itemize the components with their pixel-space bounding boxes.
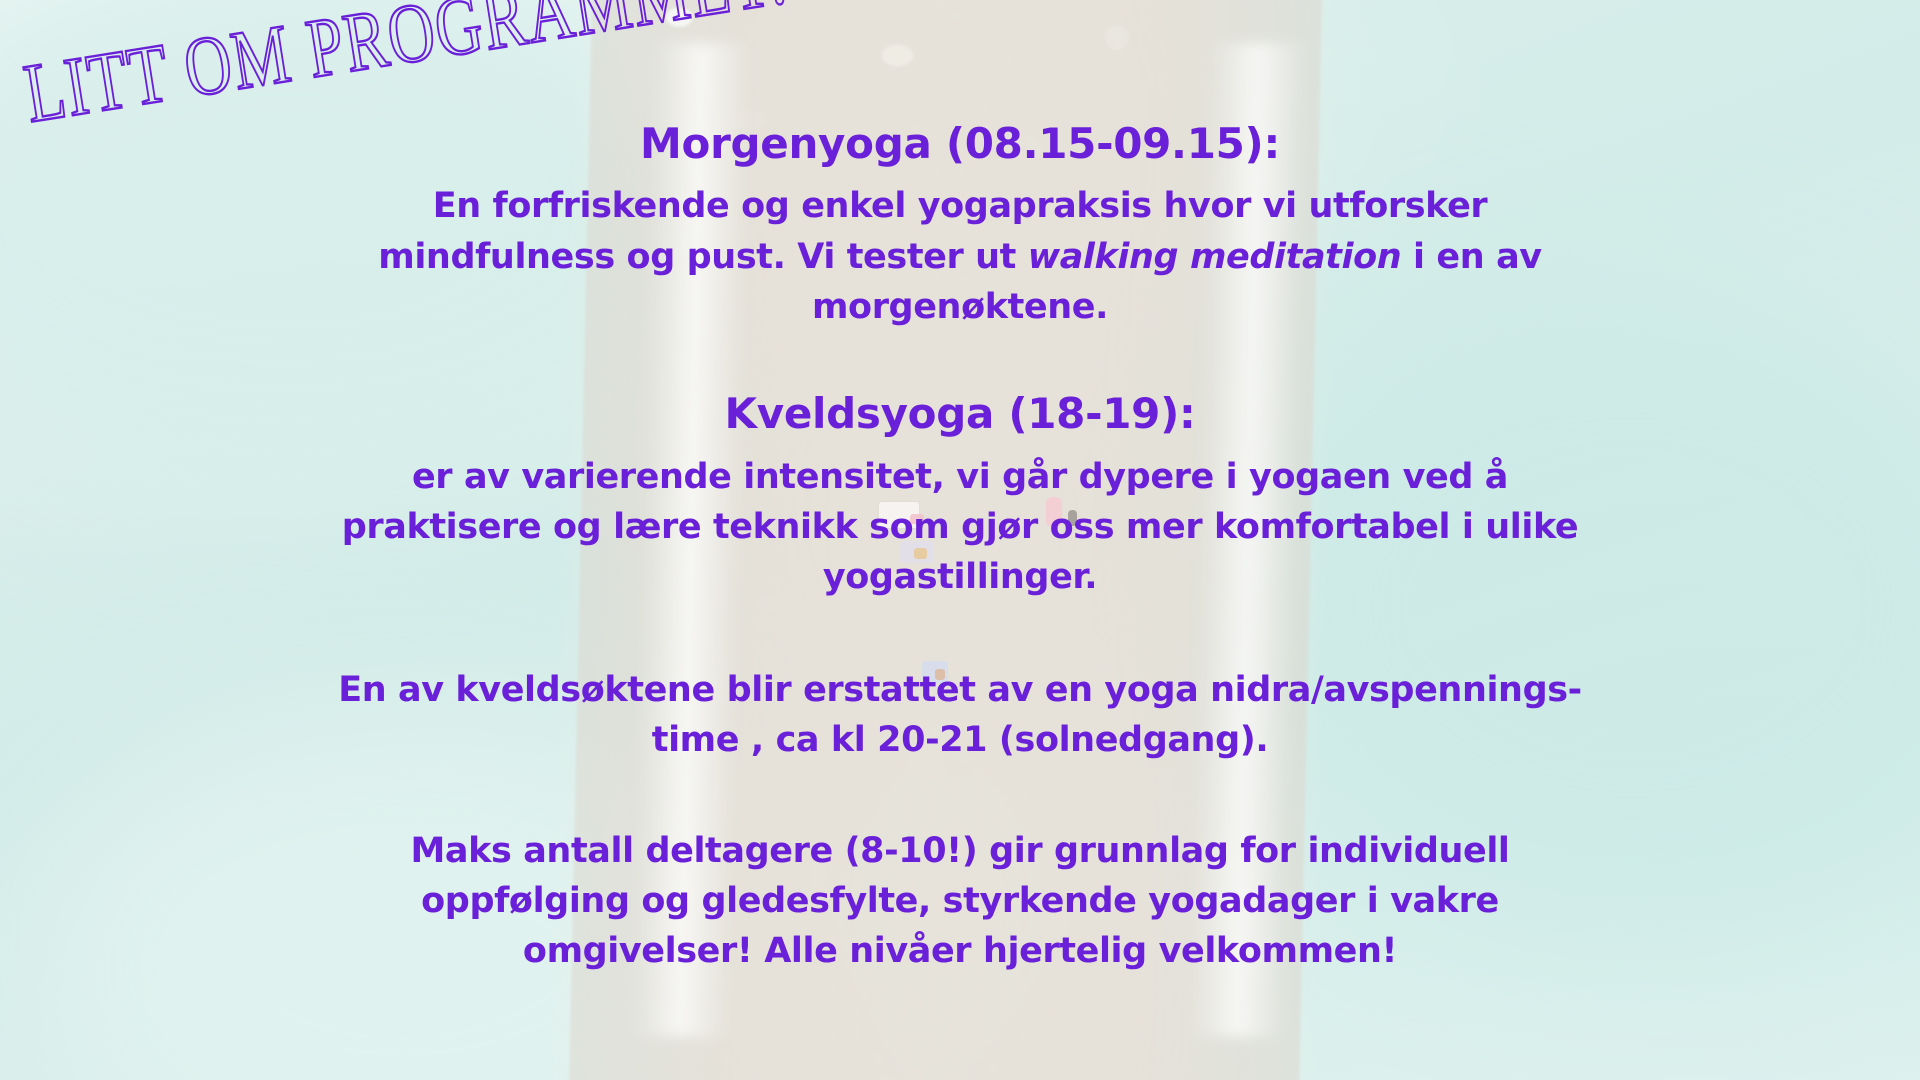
paragraph-yoga-nidra: En av kveldsøktene blir erstattet av en …	[315, 665, 1605, 766]
kveldsyoga-line-2: lære teknikk som gjør oss mer komfortabe…	[613, 507, 1578, 597]
spacer	[150, 332, 1770, 388]
paragraph-closing: Maks antall deltagere (8-10!) gir grunnl…	[315, 826, 1605, 977]
heading-morgenyoga: Morgenyoga (08.15-09.15):	[150, 118, 1770, 169]
nidra-line-2: ca kl 20-21 (solnedgang).	[776, 720, 1269, 760]
morgenyoga-emphasis: walking meditation	[1028, 237, 1401, 277]
spacer	[150, 766, 1770, 826]
paragraph-morgenyoga: En forfriskende og enkel yogapraksis hvo…	[315, 181, 1605, 332]
slide-canvas: LITT OM PROGRAMMET: Morgenyoga (08.15-09…	[0, 0, 1920, 1080]
morgenyoga-line-2a: pust. Vi tester ut	[687, 237, 1028, 277]
spacer	[150, 169, 1770, 181]
slide-content: Morgenyoga (08.15-09.15): En forfriskend…	[0, 0, 1920, 977]
spacer	[150, 603, 1770, 665]
spacer	[150, 440, 1770, 452]
closing-line-3: hjertelig velkommen!	[983, 931, 1397, 971]
heading-kveldsyoga: Kveldsyoga (18-19):	[150, 388, 1770, 439]
paragraph-kveldsyoga: er av varierende intensitet, vi går dype…	[315, 452, 1605, 603]
